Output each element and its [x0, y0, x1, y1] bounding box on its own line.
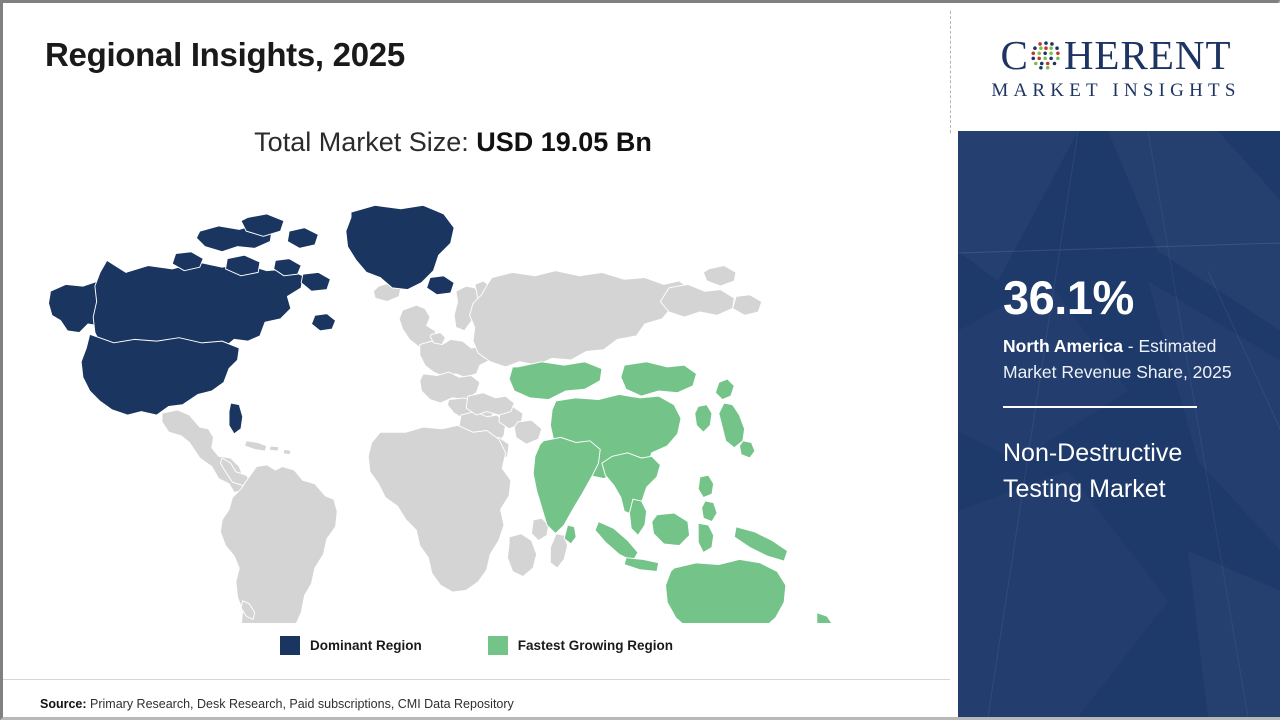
legend-label-dominant: Dominant Region: [310, 638, 422, 653]
share-percent: 36.1%: [1003, 274, 1253, 321]
square-swatch-icon: [280, 636, 300, 655]
source-label: Source:: [40, 697, 87, 711]
logo-word-herent: HERENT: [1064, 35, 1232, 76]
stat-card-divider: [1003, 406, 1197, 408]
dotted-globe-icon: [1029, 38, 1063, 72]
right-panel: C: [951, 3, 1280, 717]
stat-card-content: 36.1% North America - Estimated Market R…: [1003, 131, 1253, 507]
market-name: Non-Destructive Testing Market: [1003, 435, 1253, 507]
left-panel: Regional Insights, 2025 Total Market Siz…: [3, 3, 950, 717]
logo-subtitle: MARKET INSIGHTS: [991, 80, 1240, 102]
map-region-north-america: [49, 205, 455, 434]
world-map: [31, 183, 891, 623]
source-note: Source: Primary Research, Desk Research,…: [40, 697, 514, 711]
share-description: North America - Estimated Market Revenue…: [1003, 334, 1253, 386]
map-region-asia-pacific: [509, 362, 846, 623]
page-title: Regional Insights, 2025: [45, 36, 405, 74]
total-market-size-label: Total Market Size:: [254, 127, 476, 157]
stat-card: 36.1% North America - Estimated Market R…: [958, 131, 1280, 717]
brand-logo[interactable]: C: [951, 3, 1280, 131]
logo-wordmark: C: [1000, 32, 1231, 78]
total-market-size: Total Market Size: USD 19.05 Bn: [3, 127, 903, 158]
legend-item-fastest-growing: Fastest Growing Region: [488, 636, 673, 655]
slide-frame: Regional Insights, 2025 Total Market Siz…: [0, 0, 1280, 720]
source-text: Primary Research, Desk Research, Paid su…: [87, 697, 514, 711]
share-region-name: North America: [1003, 336, 1123, 356]
total-market-size-value: USD 19.05 Bn: [476, 127, 652, 157]
world-map-svg: [31, 183, 891, 623]
source-divider: [3, 679, 950, 680]
square-swatch-icon: [488, 636, 508, 655]
map-legend: Dominant Region Fastest Growing Region: [3, 636, 950, 655]
logo-letter-c: C: [1000, 35, 1028, 76]
legend-item-dominant: Dominant Region: [280, 636, 422, 655]
legend-label-fastest-growing: Fastest Growing Region: [518, 638, 673, 653]
